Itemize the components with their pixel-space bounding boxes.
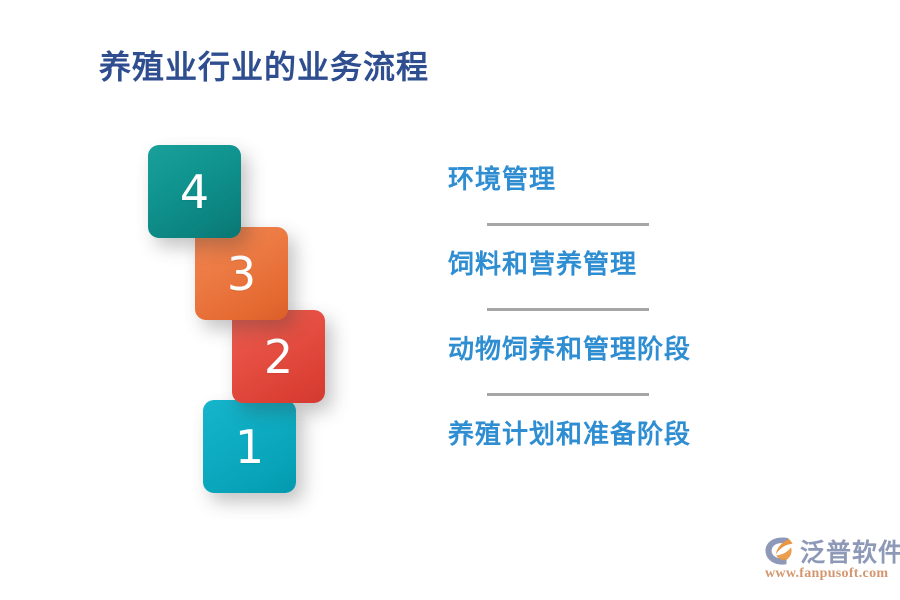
step-tile-number: 1 — [235, 424, 264, 470]
step-tile-1[interactable]: 1 — [203, 400, 296, 493]
step-divider — [487, 223, 649, 226]
step-label-text: 动物饲养和管理阶段 — [448, 329, 691, 366]
step-label-list: 环境管理 饲料和营养管理 动物饲养和管理阶段 养殖计划和准备阶段 — [440, 150, 870, 490]
step-tile-number: 2 — [264, 334, 293, 380]
step-tile-2[interactable]: 2 — [232, 310, 325, 403]
brand-url: www.fanpusoft.com — [765, 566, 888, 582]
step-tiles-group: 4 3 2 1 — [0, 0, 420, 600]
brand-watermark: 泛普软件 www.fanpusoft.com — [752, 530, 892, 592]
step-label-text: 饲料和营养管理 — [448, 244, 637, 281]
step-list-item[interactable]: 养殖计划和准备阶段 — [440, 405, 870, 490]
brand-name: 泛普软件 — [800, 533, 900, 569]
step-divider — [487, 393, 649, 396]
step-tile-number: 4 — [180, 169, 209, 215]
step-tile-3[interactable]: 3 — [195, 227, 288, 320]
fanpu-swoosh-logo-icon — [764, 536, 798, 566]
step-tile-4[interactable]: 4 — [148, 145, 241, 238]
step-list-item[interactable]: 动物饲养和管理阶段 — [440, 320, 870, 405]
step-tile-number: 3 — [227, 251, 256, 297]
step-divider — [487, 308, 649, 311]
step-label-text: 养殖计划和准备阶段 — [448, 414, 691, 451]
step-label-text: 环境管理 — [448, 159, 556, 196]
slide-canvas: 养殖业行业的业务流程 4 3 2 1 环境管理 饲料和营养管理 动物饲养和管理阶… — [0, 0, 900, 600]
step-list-item[interactable]: 饲料和营养管理 — [440, 235, 870, 320]
step-list-item[interactable]: 环境管理 — [440, 150, 870, 235]
